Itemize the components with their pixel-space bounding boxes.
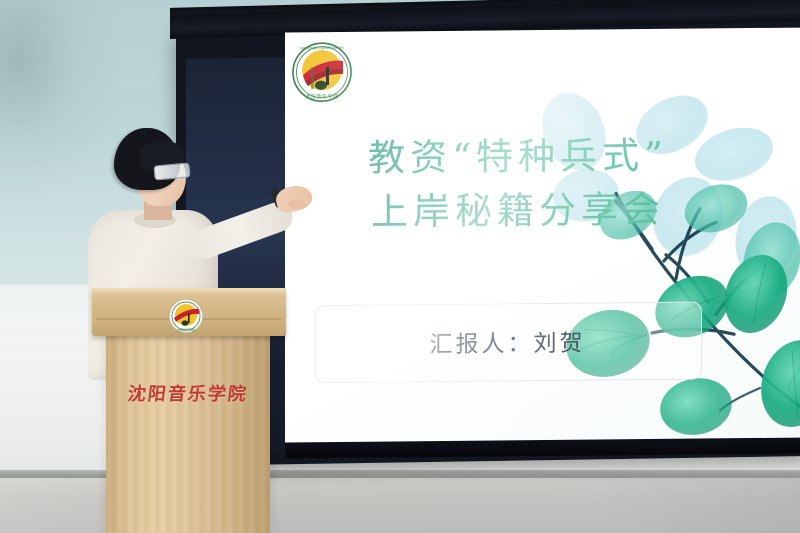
shenyang-conservatory-seal-icon: SHENYANG CONSERVATORY 沈阳音乐学院	[291, 41, 353, 104]
svg-text:SHENYANG CONSERVATORY: SHENYANG CONSERVATORY	[300, 46, 344, 50]
screen-glare	[285, 27, 800, 456]
slide-title-line-1: 教资“特种兵式”	[303, 128, 733, 186]
svg-text:沈阳音乐学院: 沈阳音乐学院	[177, 327, 195, 332]
presenter-hand	[274, 182, 315, 215]
slide-title-line-2: 上岸秘籍分享会	[303, 182, 733, 240]
podium-wood-grain	[106, 334, 270, 533]
presentation-scene: SHENYANG CONSERVATORY 沈阳音乐学院 教资“特种兵式” 上岸…	[0, 0, 800, 533]
podium-engraved-text: 沈阳音乐学院	[104, 380, 271, 406]
slide-title-block: 教资“特种兵式” 上岸秘籍分享会	[303, 128, 733, 240]
presenter-glasses	[153, 162, 190, 180]
podium-seal-icon: 沈阳音乐学院	[168, 298, 204, 334]
presenter-name-text: 汇报人：刘贺	[315, 302, 700, 382]
presentation-slide: SHENYANG CONSERVATORY 沈阳音乐学院 教资“特种兵式” 上岸…	[285, 27, 800, 456]
svg-text:沈阳音乐学院: 沈阳音乐学院	[305, 93, 339, 100]
podium-top-lip	[92, 288, 286, 295]
